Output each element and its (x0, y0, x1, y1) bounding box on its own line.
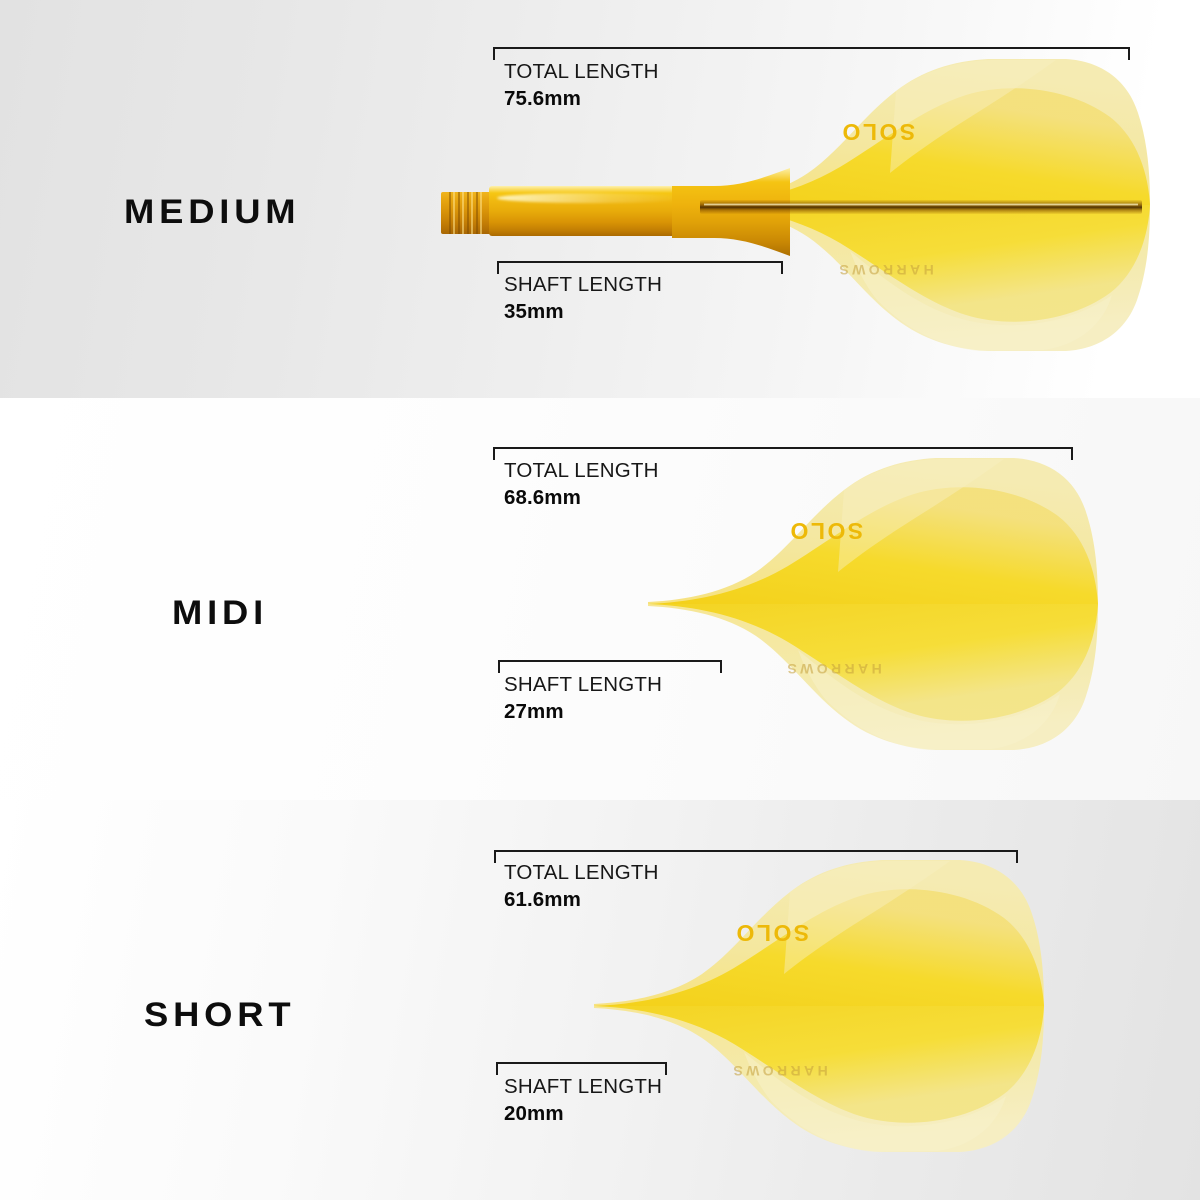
shaft-length-bracket-short (496, 1062, 667, 1064)
total-length-value-short: 61.6mm (504, 886, 659, 913)
shaft-length-value-midi: 27mm (504, 698, 662, 725)
shaft-length-bracket-midi (498, 660, 722, 662)
flight-short (594, 856, 1054, 1156)
shaft-length-value-medium: 35mm (504, 298, 662, 325)
total-length-title-midi: TOTAL LENGTH (504, 458, 659, 484)
shaft-length-value-short: 20mm (504, 1100, 662, 1127)
shaft-length-title-short: SHAFT LENGTH (504, 1074, 662, 1100)
shaft-length-title-medium: SHAFT LENGTH (504, 272, 662, 298)
size-label-midi: MIDI (172, 594, 268, 633)
total-length-bracket-midi (493, 447, 1073, 449)
flight-midi (648, 454, 1108, 754)
panel-short: SHORT (0, 800, 1200, 1200)
total-length-label-medium: TOTAL LENGTH 75.6mm (504, 59, 659, 112)
shaft-length-label-midi: SHAFT LENGTH 27mm (504, 672, 662, 725)
total-length-bracket-short (494, 850, 1018, 852)
total-length-bracket-medium (493, 47, 1130, 49)
size-label-medium: MEDIUM (124, 193, 300, 232)
shaft-length-bracket-medium (497, 261, 783, 263)
panel-midi: MIDI (0, 398, 1200, 800)
shaft-barrel-medium (489, 186, 689, 236)
shaft-length-label-short: SHAFT LENGTH 20mm (504, 1074, 662, 1127)
total-length-title-short: TOTAL LENGTH (504, 860, 659, 886)
size-label-short: SHORT (144, 996, 295, 1035)
total-length-title-medium: TOTAL LENGTH (504, 59, 659, 85)
shaft-length-label-medium: SHAFT LENGTH 35mm (504, 272, 662, 325)
total-length-label-midi: TOTAL LENGTH 68.6mm (504, 458, 659, 511)
total-length-value-midi: 68.6mm (504, 484, 659, 511)
flight-spine-highlight-medium (704, 203, 1138, 206)
shaft-thread-medium (441, 192, 493, 234)
panel-medium: MEDIUM (0, 0, 1200, 398)
shaft-length-title-midi: SHAFT LENGTH (504, 672, 662, 698)
total-length-value-medium: 75.6mm (504, 85, 659, 112)
total-length-label-short: TOTAL LENGTH 61.6mm (504, 860, 659, 913)
